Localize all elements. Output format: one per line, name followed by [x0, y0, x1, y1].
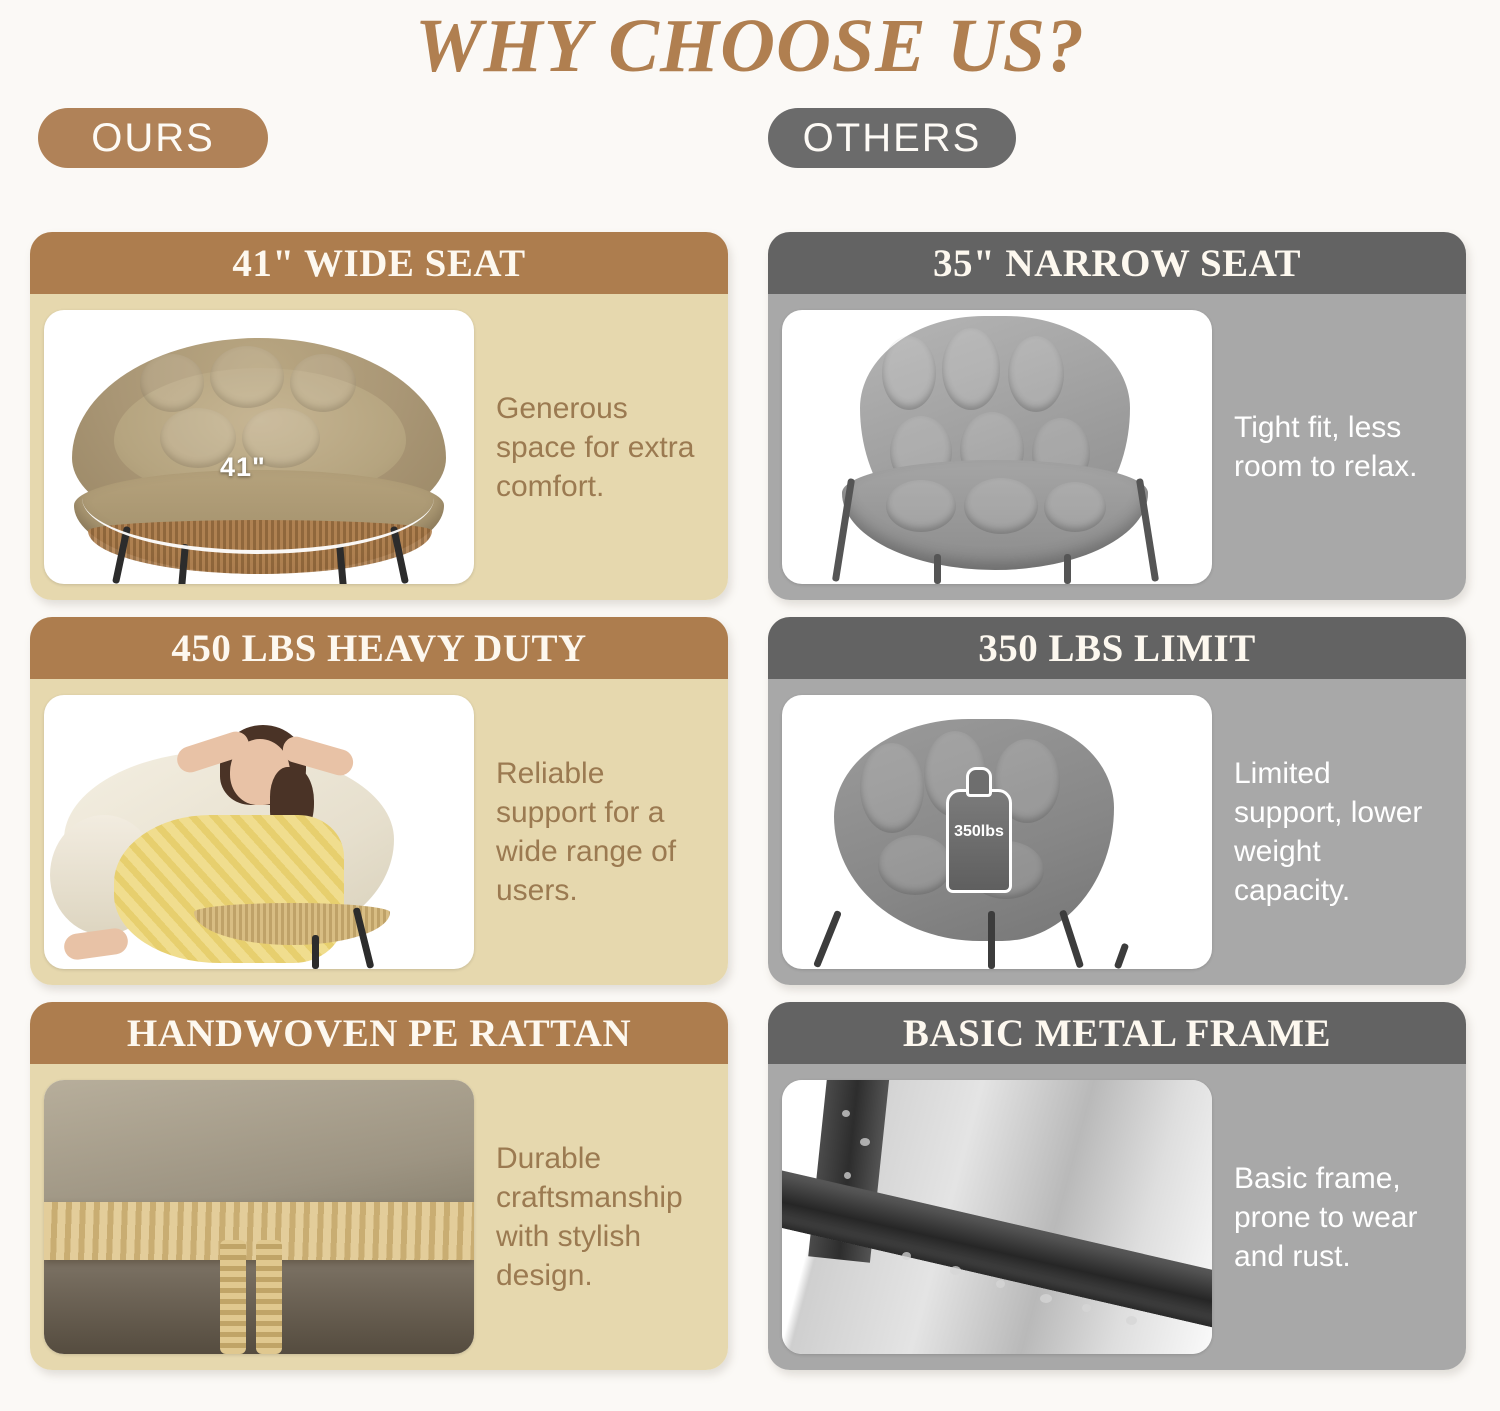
- others-card-weight-limit: 350 LBS LIMIT 350lbs: [768, 617, 1466, 985]
- rusty-metal-frame-closeup-photo: [782, 1080, 1212, 1354]
- legend-pill-ours: OURS: [38, 108, 268, 168]
- ours-card-3-caption: Durable craftsmanship with stylish desig…: [474, 1139, 712, 1295]
- weight-capacity-label: 350lbs: [946, 823, 1012, 841]
- others-card-2-header: 350 LBS LIMIT: [768, 617, 1466, 679]
- weight-icon: [946, 789, 1012, 893]
- handwoven-rattan-closeup-photo: [44, 1080, 474, 1354]
- others-card-2-caption: Limited support, lower weight capacity.: [1212, 754, 1450, 910]
- comparison-row-3: HANDWOVEN PE RATTAN Durable craftsmanshi…: [0, 1002, 1500, 1387]
- comparison-legend: OURS OTHERS: [0, 90, 1500, 176]
- ours-card-wide-seat: 41" WIDE SEAT: [30, 232, 728, 600]
- ours-card-2-caption: Reliable support for a wide range of use…: [474, 754, 712, 910]
- page-title: WHY CHOOSE US?: [0, 0, 1500, 90]
- ours-card-rattan: HANDWOVEN PE RATTAN Durable craftsmanshi…: [30, 1002, 728, 1370]
- ours-card-1-caption: Generous space for extra comfort.: [474, 389, 712, 506]
- woman-reclining-in-chair-photo: [44, 695, 474, 969]
- others-card-1-caption: Tight fit, less room to relax.: [1212, 408, 1450, 486]
- ours-card-1-header: 41" WIDE SEAT: [30, 232, 728, 294]
- weight-knob-icon: [966, 767, 992, 797]
- legend-pill-others: OTHERS: [768, 108, 1016, 168]
- gray-chair-with-weight-photo: 350lbs: [782, 695, 1212, 969]
- others-card-narrow-seat: 35" NARROW SEAT: [768, 232, 1466, 600]
- comparison-row-1: 41" WIDE SEAT: [0, 232, 1500, 617]
- ours-card-heavy-duty: 450 LBS HEAVY DUTY: [30, 617, 728, 985]
- others-card-3-header: BASIC METAL FRAME: [768, 1002, 1466, 1064]
- comparison-row-2: 450 LBS HEAVY DUTY: [0, 617, 1500, 1002]
- ours-card-2-header: 450 LBS HEAVY DUTY: [30, 617, 728, 679]
- others-card-3-caption: Basic frame, prone to wear and rust.: [1212, 1159, 1450, 1276]
- ours-card-3-header: HANDWOVEN PE RATTAN: [30, 1002, 728, 1064]
- seat-width-label: 41": [220, 452, 266, 483]
- others-card-metal-frame: BASIC METAL FRAME: [768, 1002, 1466, 1370]
- comparison-grid: 41" WIDE SEAT: [0, 232, 1500, 1387]
- gray-narrow-chair-photo: [782, 310, 1212, 584]
- others-card-1-header: 35" NARROW SEAT: [768, 232, 1466, 294]
- tan-papasan-chair-photo: 41": [44, 310, 474, 584]
